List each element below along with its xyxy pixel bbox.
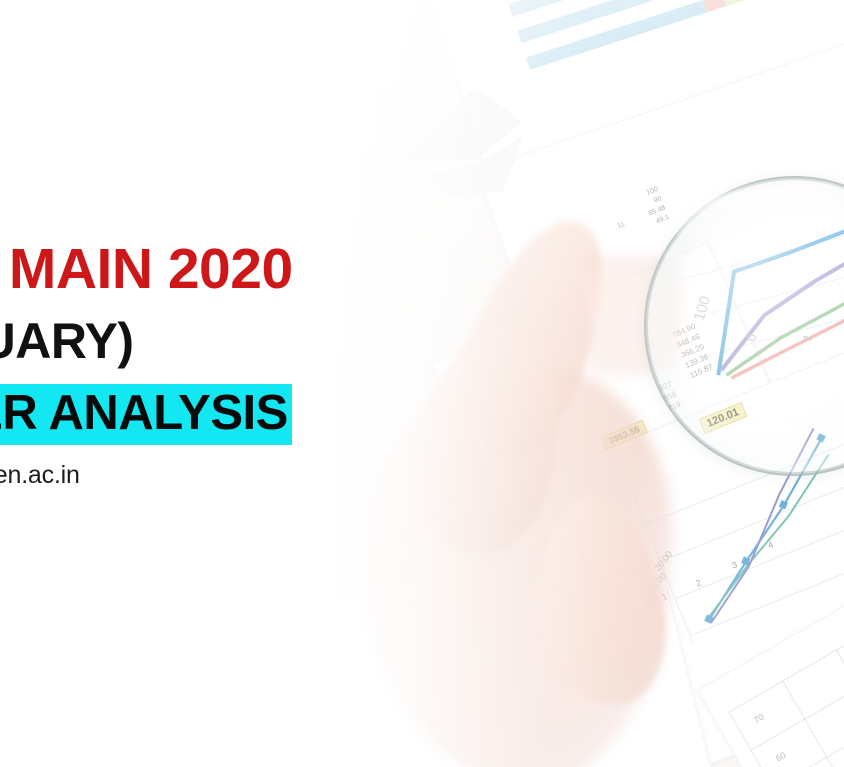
title-line-exam: E MAIN 2020 (0, 238, 470, 300)
table-cell-value: 60 (774, 750, 788, 764)
title-line-subject: PER ANALYSIS (0, 384, 292, 445)
bar-segment (722, 0, 755, 6)
banner-root: 100 90 1185.48 49.1 100 0 1 91784.90 348… (0, 0, 844, 767)
title-line-subject-wrap: PER ANALYSIS (0, 384, 470, 445)
table-cell-value: 70 (752, 712, 766, 726)
headline-block: E MAIN 2020 NUARY) PER ANALYSIS m.allen.… (0, 238, 470, 490)
website-url[interactable]: m.allen.ac.in (0, 461, 470, 490)
title-line-session: NUARY) (0, 312, 470, 370)
